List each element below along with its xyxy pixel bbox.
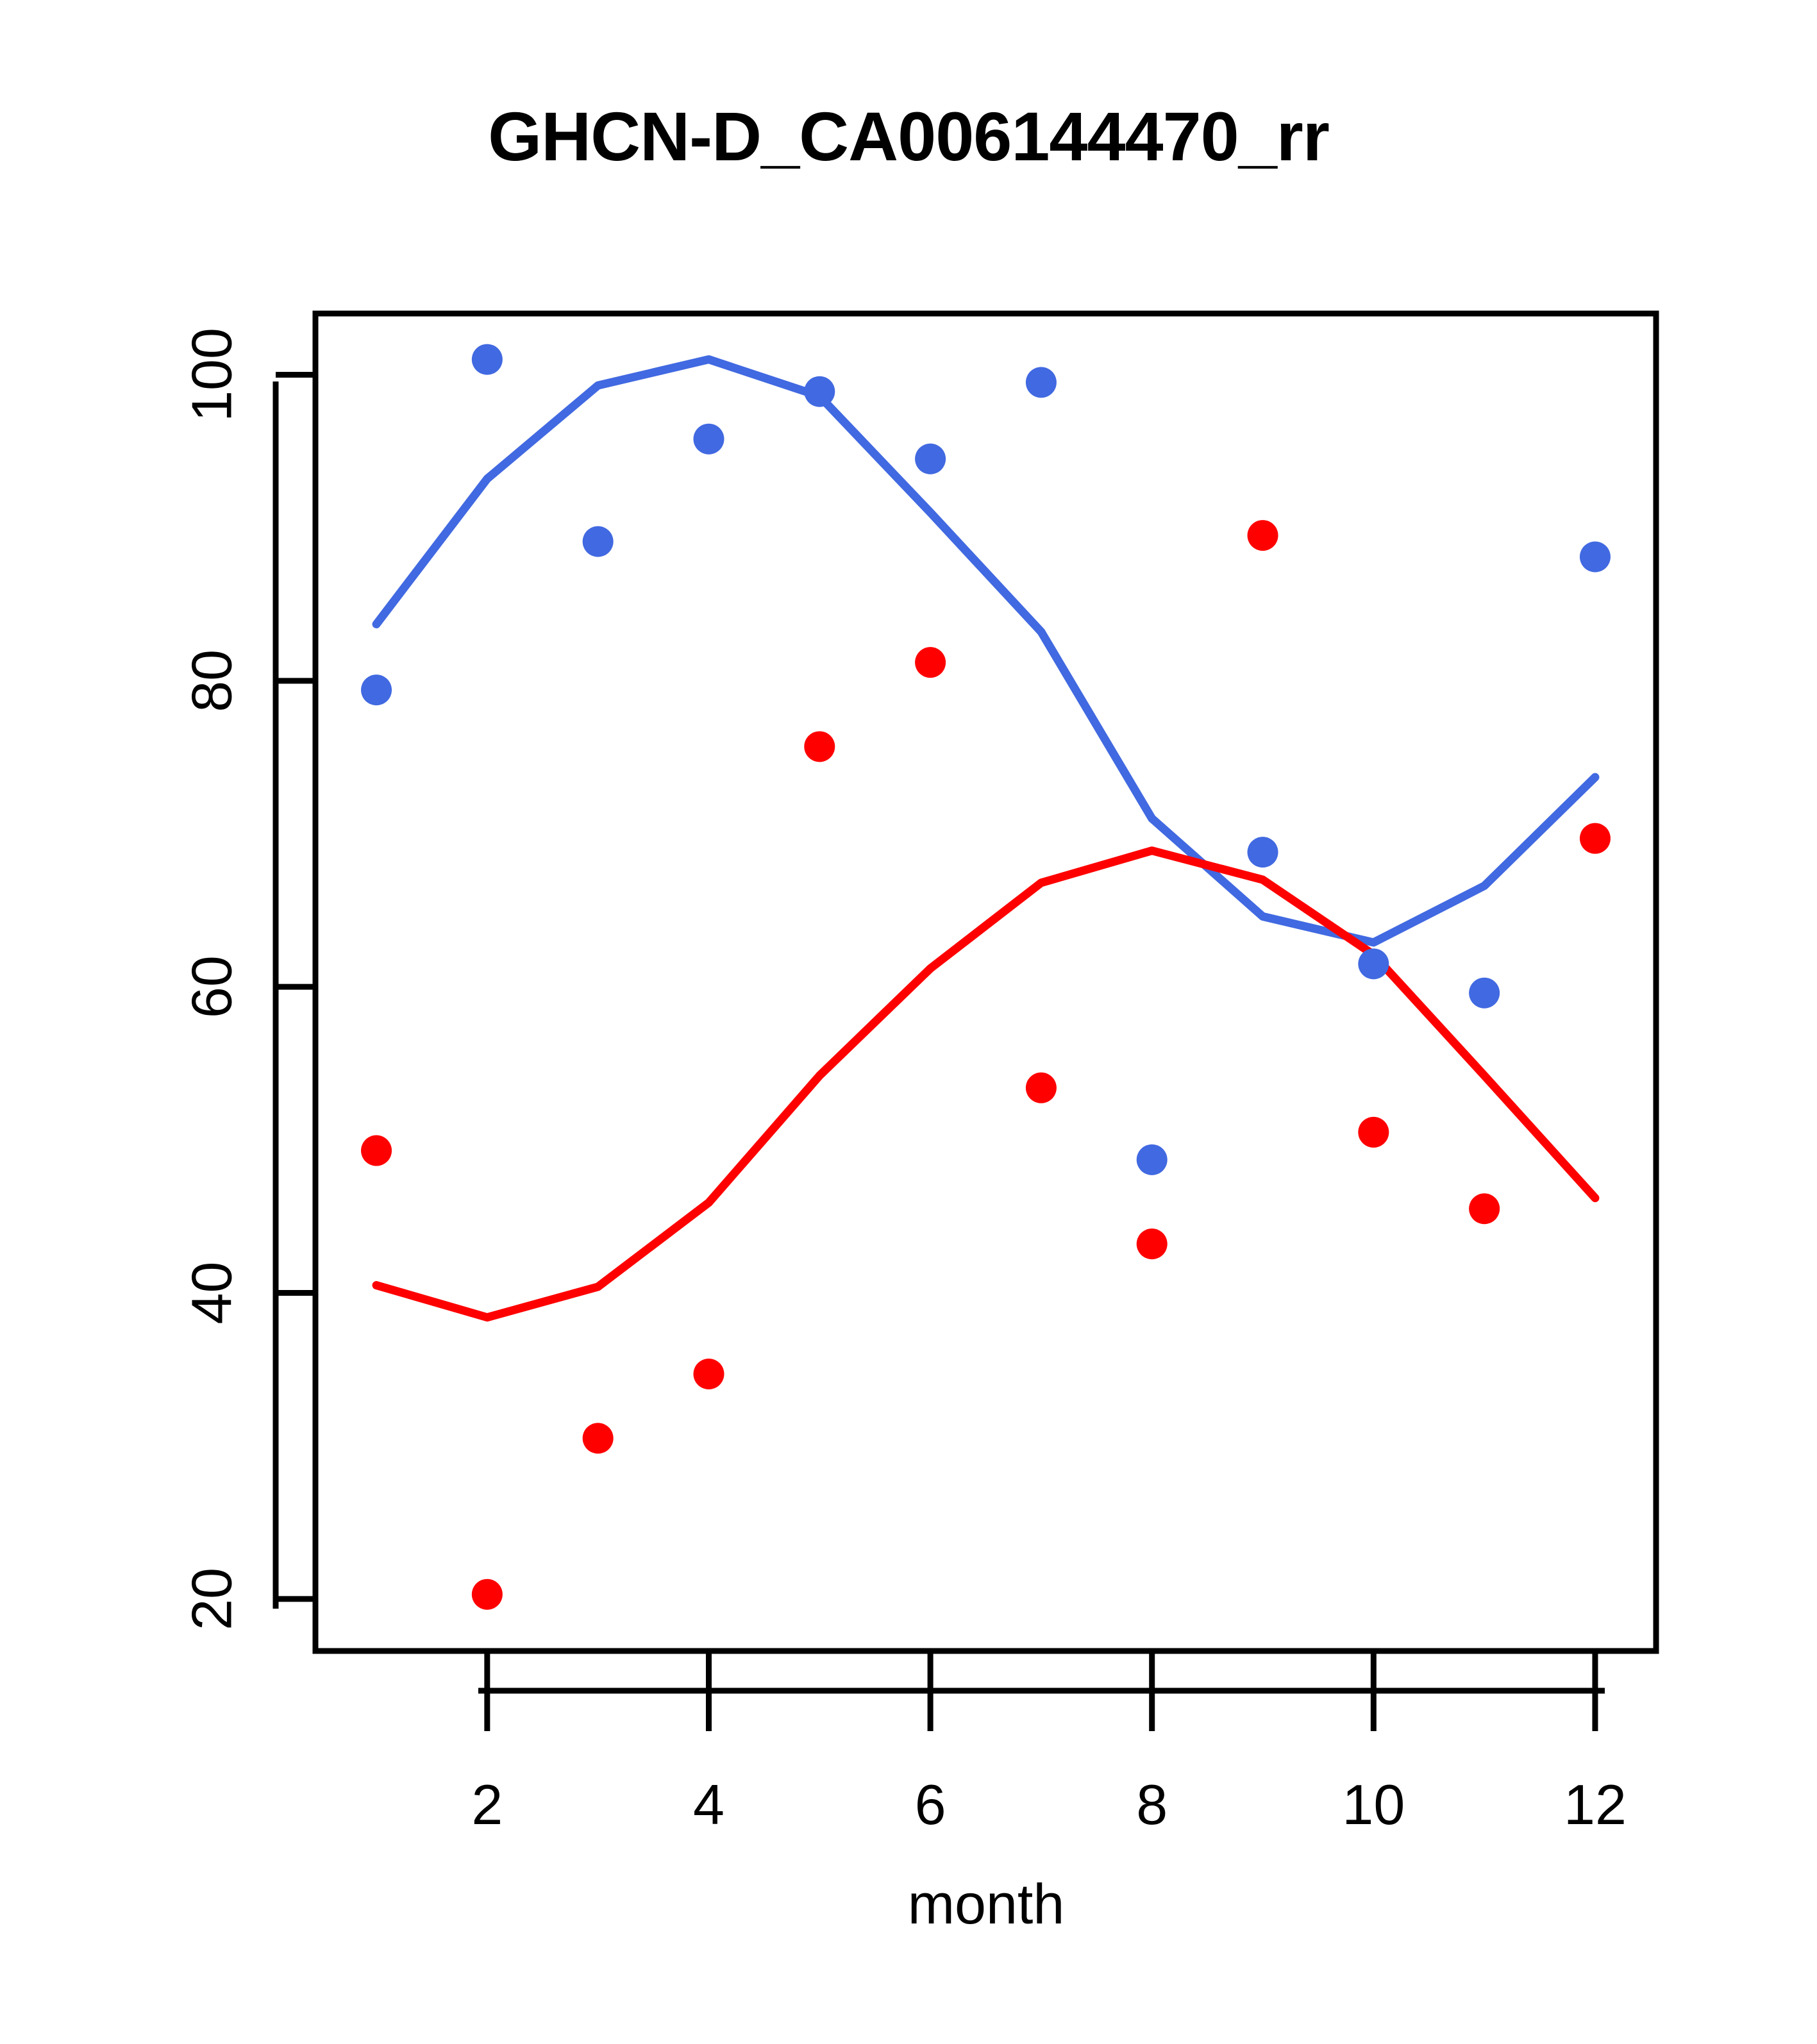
data-point — [1580, 541, 1611, 572]
plot-frame — [315, 314, 1656, 1651]
y-tick-label: 80 — [180, 649, 244, 712]
x-tick-label: 2 — [471, 1773, 503, 1836]
y-tick-label: 60 — [180, 955, 244, 1018]
y-axis-ticks — [276, 374, 315, 1598]
scatter-plot: 20406080100 24681012 month — [0, 0, 1817, 2044]
x-tick-label: 10 — [1342, 1773, 1405, 1836]
data-point — [472, 344, 503, 375]
data-point — [915, 444, 946, 474]
data-point — [583, 1423, 614, 1453]
data-point — [1248, 837, 1278, 867]
data-point — [1580, 823, 1611, 854]
x-tick-label: 8 — [1136, 1773, 1168, 1836]
series-layer — [361, 344, 1611, 1610]
data-point — [1026, 367, 1057, 398]
x-axis-tick-labels: 24681012 — [471, 1773, 1627, 1836]
series-points-blue-points — [361, 344, 1611, 1175]
y-tick-label: 100 — [180, 328, 244, 422]
data-point — [1137, 1228, 1168, 1259]
data-point — [1469, 978, 1500, 1009]
x-tick-label: 12 — [1564, 1773, 1627, 1836]
data-point — [915, 647, 946, 678]
x-axis: 24681012 — [471, 1651, 1627, 1836]
data-point — [693, 1359, 724, 1389]
y-axis: 20406080100 — [180, 328, 316, 1630]
data-point — [1248, 520, 1278, 551]
data-point — [472, 1579, 503, 1610]
data-point — [1358, 1117, 1389, 1148]
y-axis-tick-labels: 20406080100 — [180, 328, 244, 1630]
x-tick-label: 6 — [915, 1773, 946, 1836]
x-tick-label: 4 — [693, 1773, 724, 1836]
series-line-blue-line — [376, 360, 1595, 942]
data-point — [361, 674, 392, 705]
chart-page: GHCN-D_CA006144470_rr 20406080100 246810… — [0, 0, 1817, 2044]
data-point — [1469, 1193, 1500, 1224]
data-point — [1026, 1073, 1057, 1103]
x-axis-label: month — [908, 1872, 1065, 1936]
data-point — [361, 1135, 392, 1166]
y-tick-label: 40 — [180, 1262, 244, 1325]
data-point — [804, 731, 835, 762]
series-points-red-points — [361, 520, 1611, 1610]
data-point — [804, 376, 835, 407]
data-point — [1137, 1144, 1168, 1175]
data-point — [1358, 948, 1389, 979]
data-point — [693, 424, 724, 455]
data-point — [583, 526, 614, 557]
y-tick-label: 20 — [180, 1568, 244, 1630]
